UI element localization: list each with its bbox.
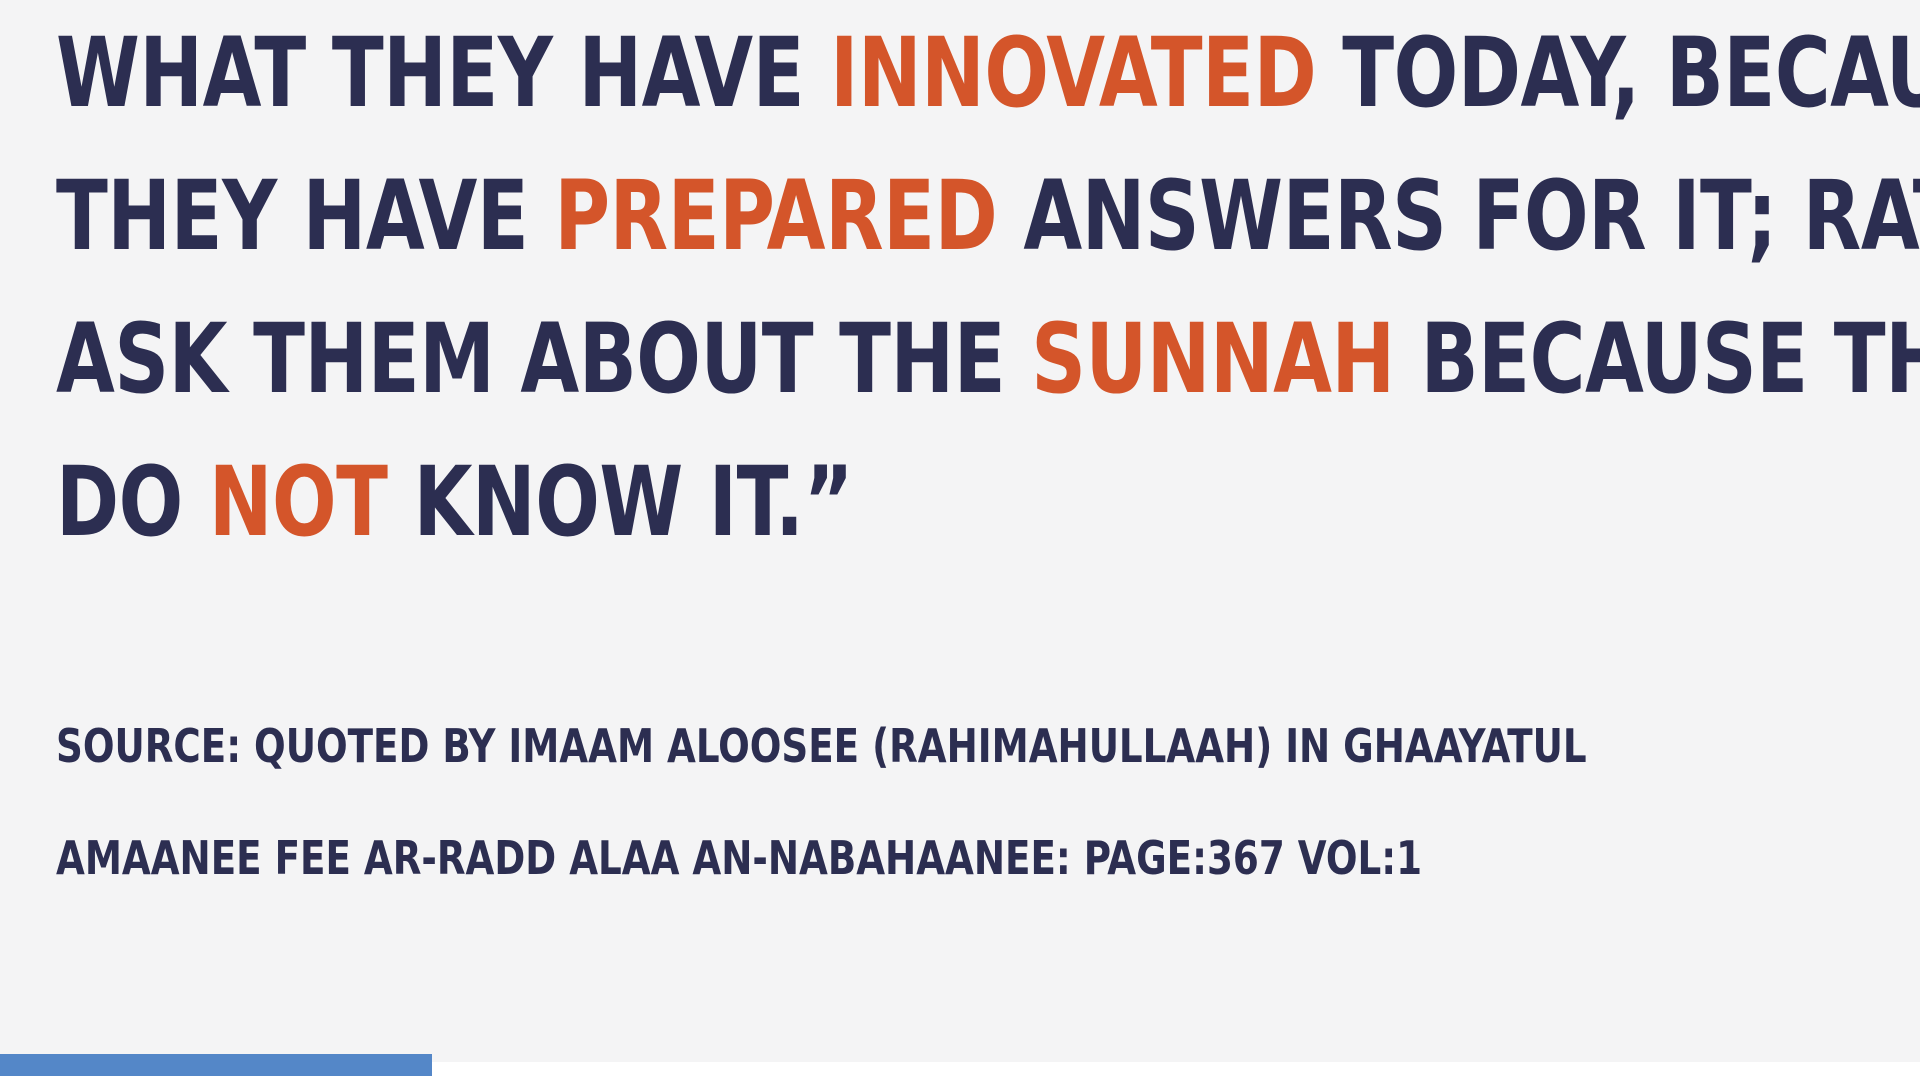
quote-line-1-part-3: TODAY, BECAUSE — [1316, 17, 1920, 129]
accent-bar — [0, 1054, 432, 1076]
quote-text-block: WHAT THEY HAVE INNOVATED TODAY, BECAUSE … — [56, 2, 1920, 574]
quote-highlight-innovated: INNOVATED — [830, 17, 1316, 129]
quote-highlight-sunnah: SUNNAH — [1031, 303, 1394, 415]
quote-line-1: WHAT THEY HAVE INNOVATED TODAY, BECAUSE — [56, 2, 1702, 145]
quote-highlight-not: NOT — [209, 446, 388, 558]
quote-line-3: ASK THEM ABOUT THE SUNNAH BECAUSE THEY — [56, 288, 1702, 431]
source-line-1: SOURCE: QUOTED BY IMAAM ALOOSEE (RAHIMAH… — [56, 690, 1739, 802]
source-line-2: AMAANEE FEE AR-RADD ALAA AN-NABAHAANEE: … — [56, 802, 1739, 914]
quote-highlight-prepared: PREPARED — [554, 160, 997, 272]
quote-line-4-part-1: DO — [56, 446, 209, 558]
quote-line-4-part-3: KNOW IT.” — [388, 446, 854, 558]
quote-line-1-part-1: WHAT THEY HAVE — [56, 17, 830, 129]
quote-line-2-part-3: ANSWERS FOR IT; RATHER — [997, 160, 1920, 272]
quote-line-2-part-1: THEY HAVE — [56, 160, 554, 272]
quote-line-3-part-1: ASK THEM ABOUT THE — [56, 303, 1031, 415]
source-citation-block: SOURCE: QUOTED BY IMAAM ALOOSEE (RAHIMAH… — [56, 690, 1920, 914]
quote-line-4: DO NOT KNOW IT.” — [56, 431, 1702, 574]
quote-line-2: THEY HAVE PREPARED ANSWERS FOR IT; RATHE… — [56, 145, 1702, 288]
quote-line-3-part-3: BECAUSE THEY — [1395, 303, 1920, 415]
quote-poster: WHAT THEY HAVE INNOVATED TODAY, BECAUSE … — [0, 0, 1920, 1080]
